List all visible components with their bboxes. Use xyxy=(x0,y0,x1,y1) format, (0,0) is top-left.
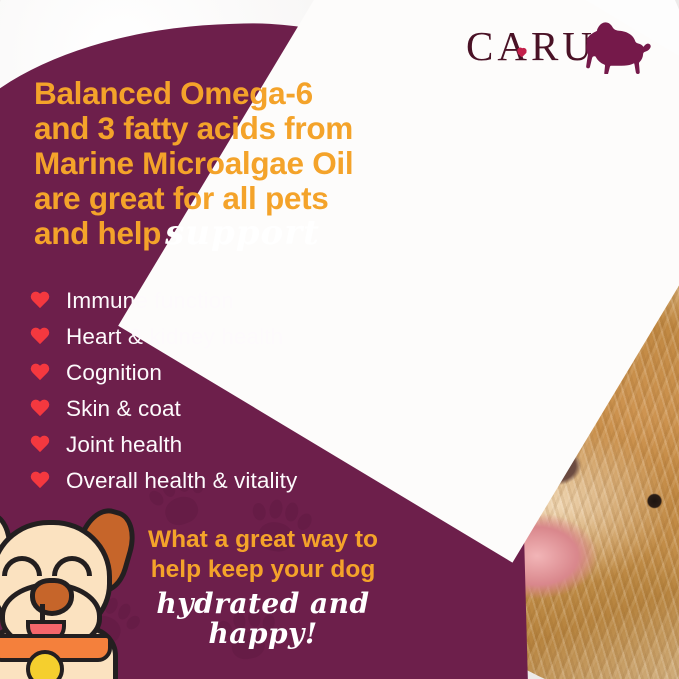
heart-icon xyxy=(30,472,50,491)
promo-banner: Balanced Omega-6 and 3 fatty acids from … xyxy=(0,0,679,679)
headline-line-3: Marine Microalgae Oil xyxy=(34,146,434,181)
heart-icon xyxy=(30,436,50,455)
benefit-label: Overall health & vitality xyxy=(66,468,297,494)
list-item: Overall health & vitality xyxy=(30,463,420,499)
headline-line-1: Balanced Omega-6 xyxy=(34,76,434,111)
list-item: Skin & coat xyxy=(30,391,420,427)
headline-line-5-prefix: and help xyxy=(34,215,161,251)
cartoon-dog-illustration xyxy=(0,498,132,679)
dog-silhouette-icon xyxy=(581,22,653,79)
headline-line-2: and 3 fatty acids from xyxy=(34,111,434,146)
heart-icon xyxy=(30,400,50,419)
headline-script-word: support xyxy=(161,213,320,253)
heart-icon xyxy=(30,328,50,347)
benefit-label: Joint health xyxy=(66,432,182,458)
headline-line-4: are great for all pets xyxy=(34,181,434,216)
list-item: Immune function xyxy=(30,283,420,319)
brand-wordmark: CARU xyxy=(466,22,596,70)
benefits-list: Immune function Heart & kidney health Co… xyxy=(30,283,420,499)
benefit-label: Cognition xyxy=(66,360,162,386)
heart-icon xyxy=(30,364,50,383)
callout-line-1: What a great way to xyxy=(98,525,428,555)
heart-icon xyxy=(30,292,50,311)
list-item: Joint health xyxy=(30,427,420,463)
callout-script: hydrated and happy! xyxy=(98,589,428,649)
cartoon-dog-nose xyxy=(30,578,74,616)
brand-logo[interactable]: CARU xyxy=(466,22,656,76)
benefit-label: Skin & coat xyxy=(66,396,181,422)
headline-line-5: and helpsupport xyxy=(34,216,434,251)
callout-line-2: help keep your dog xyxy=(98,555,428,585)
headline: Balanced Omega-6 and 3 fatty acids from … xyxy=(34,76,434,251)
benefit-label: Immune function xyxy=(66,288,234,314)
list-item: Heart & kidney health xyxy=(30,319,420,355)
benefit-label: Heart & kidney health xyxy=(66,324,283,350)
callout-text: What a great way to help keep your dog h… xyxy=(98,525,428,649)
list-item: Cognition xyxy=(30,355,420,391)
heart-icon xyxy=(516,48,527,58)
